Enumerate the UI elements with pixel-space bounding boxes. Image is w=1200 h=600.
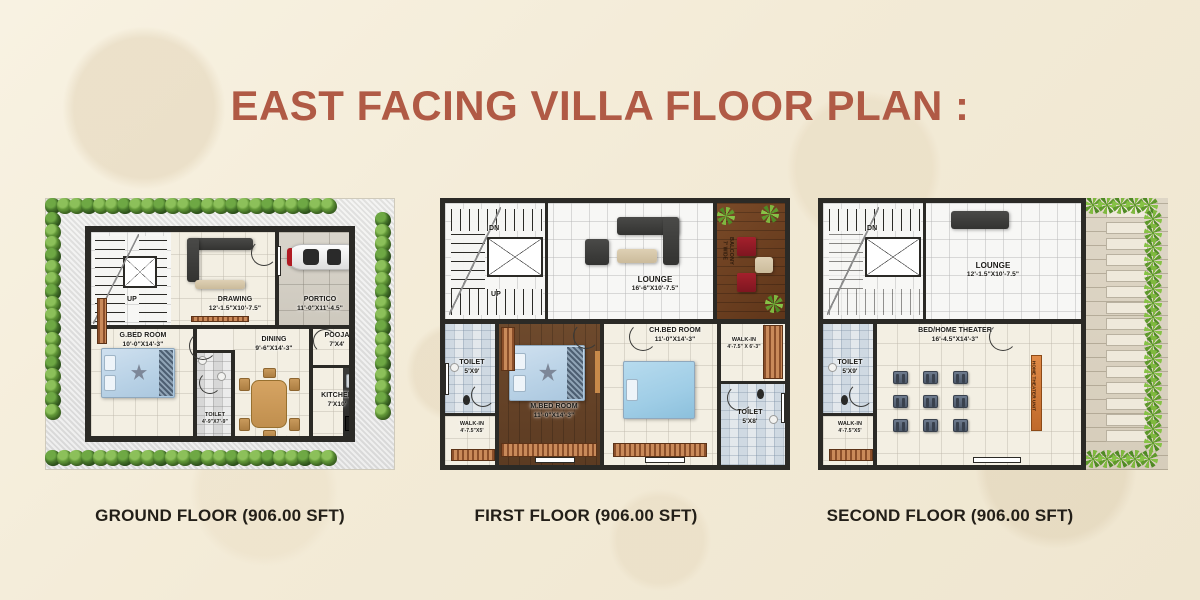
label-walkin-second: WALK-IN 4'-7.5"X5'	[825, 421, 875, 434]
wall	[721, 381, 785, 384]
wardrobe-ground	[97, 438, 189, 442]
wc	[841, 395, 848, 405]
second-floor-house: DN HOME THEATER UNIT LOUNGE 12'-	[818, 198, 1086, 470]
terrace-slat	[1106, 254, 1148, 266]
terrace-slat	[1106, 318, 1148, 330]
stair-marker-dn-first: DN	[489, 225, 499, 234]
wardrobe-walkin-second	[829, 449, 873, 461]
caption-ground-floor: GROUND FLOOR (906.00 SFT)	[40, 506, 400, 526]
dining-table	[251, 380, 287, 428]
door-swing-toilet	[199, 372, 221, 394]
door-swing-bed	[189, 332, 217, 360]
staircase-second	[823, 203, 925, 321]
dining-chair	[239, 378, 250, 391]
tv-console	[191, 316, 249, 322]
room-toilet-ground	[195, 352, 233, 442]
label-drawing: DRAWING 12'-1.5"X10'-7.5"	[187, 296, 283, 313]
label-toilet-first-right: TOILET 5'X8'	[725, 409, 775, 426]
window	[781, 393, 785, 423]
label-pooja: POOJA 7'X4'	[313, 332, 355, 349]
label-toilet-second: TOILET 5'X9'	[827, 359, 873, 376]
window	[973, 457, 1021, 463]
wall	[600, 321, 604, 465]
stove	[345, 416, 355, 431]
wall	[495, 321, 499, 465]
label-toilet-ground: TOILET 4'-9"X7'-9"	[191, 412, 239, 425]
door-swing-toilet-left	[471, 383, 495, 407]
plant-icon	[765, 295, 783, 313]
wall	[823, 319, 1081, 324]
terrace-slat	[1106, 414, 1148, 426]
theater-seat	[893, 395, 908, 408]
first-floor-plan: DN UP	[440, 198, 790, 470]
wc	[463, 395, 470, 405]
theater-seat	[893, 419, 908, 432]
label-dining: DINING 9'-6"X14'-3"	[237, 336, 311, 353]
label-bed-home-theater: BED/HOME THEATER 16'-4.5"X14'-3"	[883, 327, 1027, 344]
theater-seat	[953, 371, 968, 384]
window	[535, 457, 575, 463]
shrub-border-bottom	[47, 452, 335, 464]
terrace-plants-right	[1146, 212, 1160, 450]
armchair-lounge	[585, 239, 609, 265]
shrub-icon	[45, 404, 61, 420]
stair-marker-dn-second: DN	[867, 225, 877, 234]
label-walkin-first-right: WALK-IN 4'-7.5" X 6'-3"	[723, 337, 765, 350]
bed-ground	[101, 348, 175, 398]
plant-icon	[761, 205, 779, 223]
terrace-slat	[1106, 366, 1148, 378]
terrace-slat	[1106, 382, 1148, 394]
terrace-plants-top	[1086, 198, 1156, 212]
stair-marker-up-ground: UP	[127, 296, 137, 305]
terrace-slat	[1106, 270, 1148, 282]
balcony-chair	[737, 273, 756, 292]
sofa-l	[187, 238, 199, 282]
page-title: EAST FACING VILLA FLOOR PLAN :	[0, 82, 1200, 130]
door-swing-master	[573, 323, 599, 349]
label-lounge-second: LOUNGE 12'-1.5"X10'-7.5"	[933, 261, 1053, 279]
shrub-icon	[321, 198, 337, 214]
wall	[923, 203, 926, 321]
terrace-slat	[1106, 398, 1148, 410]
wardrobe-walkin-right	[763, 325, 783, 379]
plant-icon	[1144, 434, 1162, 452]
terrace-slat	[1106, 430, 1148, 442]
theater-seat	[893, 371, 908, 384]
terrace-second	[1084, 198, 1168, 470]
plant-icon	[717, 207, 735, 225]
ground-floor-house: UP	[85, 226, 355, 442]
dining-chair	[289, 378, 300, 391]
wardrobe-walkin-left	[451, 449, 495, 461]
caption-first-floor: FIRST FLOOR (906.00 SFT)	[406, 506, 766, 526]
wall	[873, 321, 877, 465]
wc	[209, 440, 216, 442]
dining-chair	[289, 418, 300, 431]
wardrobe-master	[501, 443, 597, 457]
shrub-icon	[321, 450, 337, 466]
sofa-lounge-arm	[663, 217, 679, 265]
terrace-slat	[1106, 222, 1148, 234]
first-floor-house: DN UP	[440, 198, 790, 470]
dining-chair	[239, 418, 250, 431]
ground-floor-plan: UP	[45, 198, 395, 470]
label-balcony: BALCONY 7' WIDE	[721, 237, 734, 265]
plant-icon	[1140, 450, 1158, 468]
shrub-border-top	[47, 200, 335, 212]
label-kitchen: KITCHEN 7'X10'	[313, 392, 355, 409]
wc	[757, 389, 764, 399]
door-swing-toilet-second	[849, 383, 873, 407]
label-ch-bed-room: CH.BED ROOM 11'-0"X14'-3"	[627, 327, 723, 344]
theater-seat	[953, 395, 968, 408]
balcony-chair	[737, 237, 756, 256]
terrace-slat	[1106, 286, 1148, 298]
caption-second-floor: SECOND FLOOR (906.00 SFT)	[770, 506, 1130, 526]
window	[645, 457, 685, 463]
bed-child	[623, 361, 695, 419]
theater-seat	[923, 371, 938, 384]
wall	[91, 325, 355, 329]
theater-seat	[923, 419, 938, 432]
dining-chair	[263, 430, 276, 440]
coffee-table-lounge	[617, 249, 657, 263]
theater-seat	[923, 395, 938, 408]
terrace-slats	[1106, 206, 1148, 462]
wardrobe-master-side	[501, 327, 515, 371]
shrub-border-left	[47, 214, 59, 418]
stair-marker-up-first: UP	[491, 291, 501, 300]
door-swing	[251, 240, 277, 266]
label-lounge-first: LOUNGE 16'-6"X10'-7.5"	[595, 275, 715, 293]
terrace-slat	[1106, 238, 1148, 250]
shrub-border-right	[377, 214, 389, 418]
coffee-table	[195, 280, 245, 289]
wall	[713, 203, 717, 321]
label-toilet-first-left: TOILET 5'X9'	[449, 359, 495, 376]
door-leaf	[595, 351, 600, 393]
wall	[445, 413, 497, 416]
kitchen-sink	[346, 374, 355, 388]
terrace-slat	[1106, 350, 1148, 362]
sofa-lounge-second	[951, 211, 1009, 229]
car	[287, 240, 355, 274]
second-floor-plan: DN HOME THEATER UNIT LOUNGE 12'-	[818, 198, 1168, 470]
terrace-plants-bottom	[1086, 452, 1156, 466]
wall	[545, 203, 548, 321]
staircase-first	[445, 203, 547, 321]
wardrobe-child	[613, 443, 707, 457]
label-portico: PORTICO 11'-0"X11'-4.5"	[279, 296, 355, 313]
door-swing-toilet-right	[727, 385, 753, 411]
label-m-bed-room: M.BED ROOM 11'-0"X14'-3"	[507, 403, 601, 420]
shrub-icon	[375, 404, 391, 420]
wall	[823, 413, 875, 416]
dining-chair	[263, 368, 276, 378]
balcony-table	[755, 257, 773, 273]
terrace-slat	[1106, 302, 1148, 314]
wall	[231, 350, 235, 442]
label-g-bed-room: G.BED ROOM 10'-0"X14'-3"	[93, 332, 193, 349]
label-walkin-first-left: WALK-IN 4'-7.5"X5'	[447, 421, 497, 434]
window	[277, 246, 281, 276]
label-home-theater-unit: HOME THEATER UNIT	[1031, 361, 1037, 411]
bed-master	[509, 345, 585, 401]
theater-seat	[953, 419, 968, 432]
terrace-slat	[1106, 334, 1148, 346]
